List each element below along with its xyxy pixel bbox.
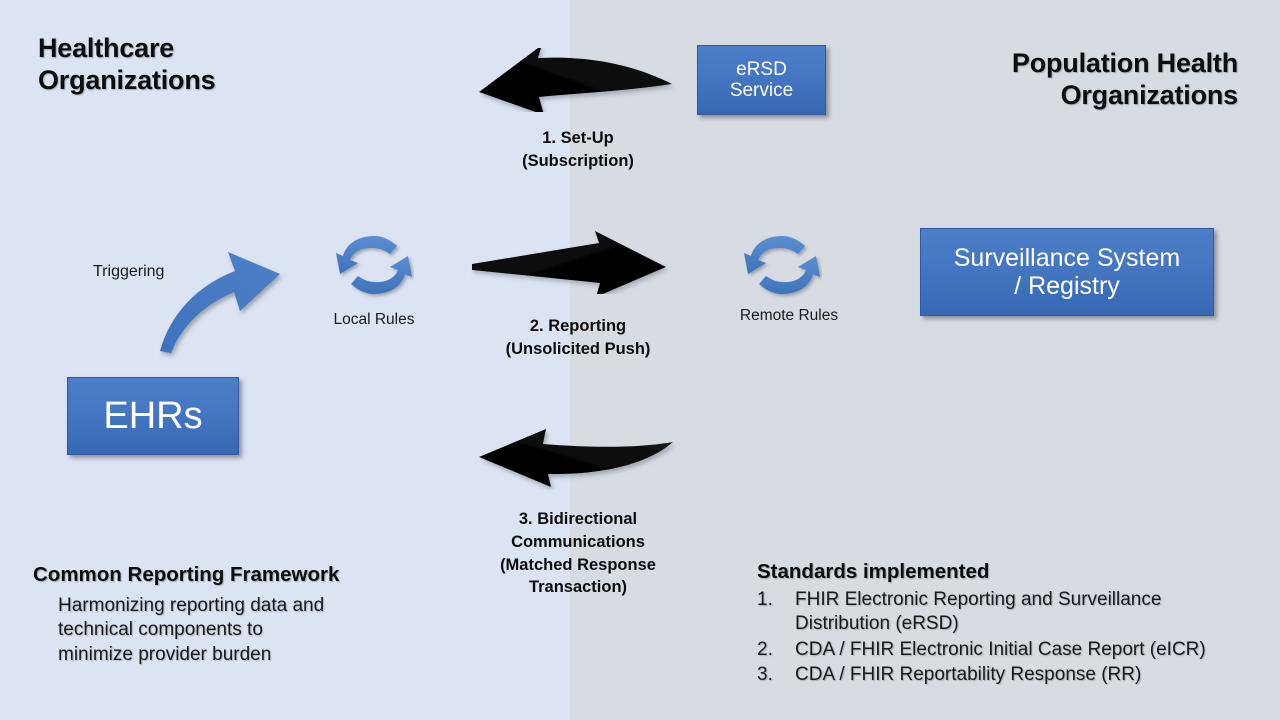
step-1-label: 1. Set-Up (Subscription) <box>438 127 718 173</box>
step-2-line-1: 2. Reporting <box>438 315 718 338</box>
step-1-line-2: (Subscription) <box>438 150 718 173</box>
standards-item-text-line-2: Distribution (eRSD) <box>795 613 959 634</box>
step-3-line-3: (Matched Response <box>428 554 728 577</box>
common-reporting-framework-body: Harmonizing reporting data and technical… <box>58 594 418 667</box>
step-3-line-1: 3. Bidirectional <box>428 508 728 531</box>
step-3-label: 3. Bidirectional Communications (Matched… <box>428 508 728 599</box>
standards-item-text: CDA / FHIR Reportability Response (RR) <box>795 663 1267 687</box>
standards-implemented-list: 1. FHIR Electronic Reporting and Surveil… <box>757 588 1267 688</box>
population-health-organizations-title: Population Health Organizations <box>818 48 1238 112</box>
healthcare-organizations-title: Healthcare Organizations <box>38 33 338 97</box>
standards-item-number: 2. <box>757 638 795 662</box>
crf-body-line-1: Harmonizing reporting data and <box>58 594 418 618</box>
surveillance-system-registry-box[interactable]: Surveillance System / Registry <box>920 228 1214 316</box>
population-title-line-1: Population Health <box>818 48 1238 80</box>
healthcare-title-line-1: Healthcare <box>38 33 338 65</box>
remote-rules-caption: Remote Rules <box>708 307 870 325</box>
crf-body-line-2: technical components to <box>58 618 418 642</box>
sync-cycle-icon <box>742 228 822 307</box>
ersd-box-line-2: Service <box>730 80 793 101</box>
common-reporting-framework-heading: Common Reporting Framework <box>33 563 339 587</box>
list-item: 2. CDA / FHIR Electronic Initial Case Re… <box>757 638 1267 662</box>
standards-implemented-heading: Standards implemented <box>757 560 989 584</box>
standards-item-text: FHIR Electronic Reporting and Surveillan… <box>795 588 1267 637</box>
ersd-box-line-1: eRSD <box>730 59 793 80</box>
sync-cycle-icon <box>334 228 414 307</box>
standards-item-text: CDA / FHIR Electronic Initial Case Repor… <box>795 638 1267 662</box>
surveillance-box-line-1: Surveillance System <box>954 244 1180 272</box>
step-3-line-2: Communications <box>428 531 728 554</box>
ehrs-box-label: EHRs <box>103 395 202 438</box>
step-1-line-1: 1. Set-Up <box>438 127 718 150</box>
crf-body-line-3: minimize provider burden <box>58 643 418 667</box>
curved-arrow-up-right-blue-icon <box>148 245 288 365</box>
triggering-label: Triggering <box>93 263 164 281</box>
list-item: 3. CDA / FHIR Reportability Response (RR… <box>757 663 1267 687</box>
diagram-canvas: Healthcare Organizations Population Heal… <box>0 0 1280 720</box>
local-rules-caption: Local Rules <box>294 311 454 329</box>
standards-item-number: 3. <box>757 663 795 687</box>
straight-arrow-right-black-icon <box>470 228 675 299</box>
ehrs-box[interactable]: EHRs <box>67 377 239 455</box>
step-2-line-2: (Unsolicited Push) <box>438 338 718 361</box>
standards-item-number: 1. <box>757 588 795 637</box>
population-title-line-2: Organizations <box>818 80 1238 112</box>
standards-item-text-line-1: FHIR Electronic Reporting and Surveillan… <box>795 589 1161 610</box>
curved-arrow-left-black-icon <box>476 428 676 495</box>
curved-arrow-left-black-icon <box>476 48 676 117</box>
step-3-line-4: Transaction) <box>428 576 728 599</box>
step-2-label: 2. Reporting (Unsolicited Push) <box>438 315 718 361</box>
list-item: 1. FHIR Electronic Reporting and Surveil… <box>757 588 1267 637</box>
surveillance-box-line-2: / Registry <box>954 272 1180 300</box>
ersd-service-box[interactable]: eRSD Service <box>697 45 826 115</box>
healthcare-title-line-2: Organizations <box>38 65 338 97</box>
